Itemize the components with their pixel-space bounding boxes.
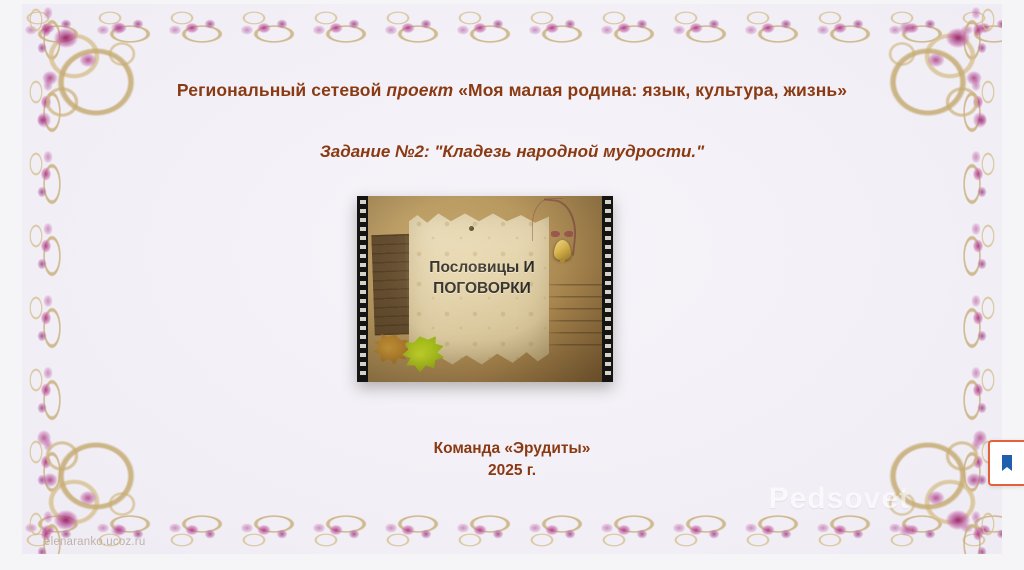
bookmark-button[interactable] xyxy=(988,440,1024,486)
slide-title-part-1: Региональный сетевой xyxy=(177,80,387,100)
team-year: 2025 г. xyxy=(22,460,1002,482)
filmstrip-left xyxy=(357,196,368,382)
slide-title-part-2: «Моя малая родина: язык, культура, жизнь… xyxy=(453,80,847,100)
site-watermark: elenaranko.ucoz.ru xyxy=(44,536,145,548)
slide-canvas[interactable]: Региональный сетевой проект «Моя малая р… xyxy=(22,4,1002,554)
bookmark-icon xyxy=(1001,455,1013,471)
presentation-viewer: Региональный сетевой проект «Моя малая р… xyxy=(0,0,1024,570)
team-name: Команда «Эрудиты» xyxy=(22,438,1002,460)
image-vignette xyxy=(357,196,613,382)
team-credit: Команда «Эрудиты» 2025 г. xyxy=(22,438,1002,483)
slide-subtitle: Задание №2: "Кладезь народной мудрости." xyxy=(22,142,1002,162)
filmstrip-right xyxy=(602,196,613,382)
slide-title: Региональный сетевой проект «Моя малая р… xyxy=(22,80,1002,102)
proverbs-image[interactable]: Пословицы И ПОГОВОРКИ xyxy=(357,196,613,382)
slide-title-emphasis: проект xyxy=(386,80,453,100)
overlay-watermark: Pedsovet xyxy=(769,482,910,516)
